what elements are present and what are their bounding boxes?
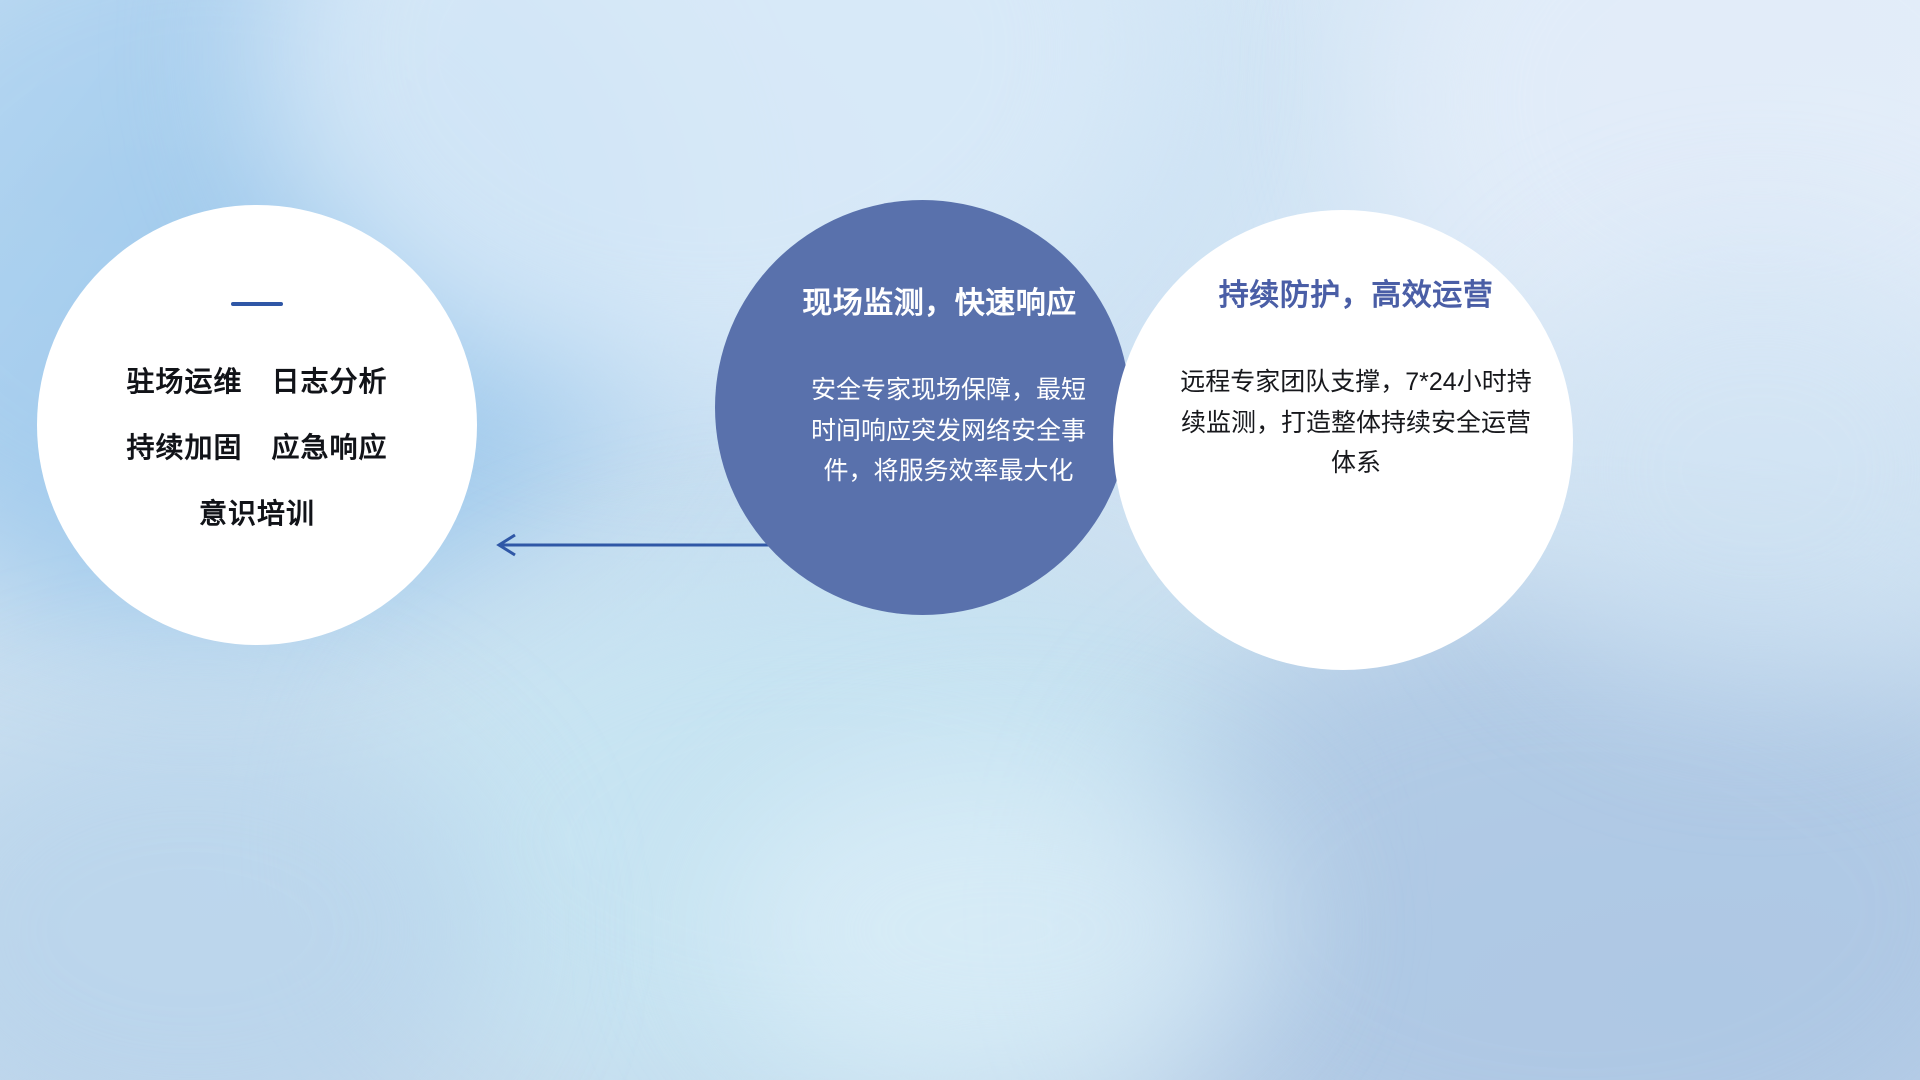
- divider-dash-icon: [231, 302, 283, 306]
- capabilities-circle: 驻场运维 日志分析 持续加固 应急响应 意识培训: [37, 205, 477, 645]
- background-blob: [380, 560, 1280, 1080]
- onsite-body: 安全专家现场保障，最短时间响应突发网络安全事件，将服务效率最大化: [807, 370, 1091, 492]
- diagram-canvas: 驻场运维 日志分析 持续加固 应急响应 意识培训 现场监测，快速响应 安全专家现…: [0, 0, 1920, 1080]
- capability-line-1: 驻场运维 日志分析: [126, 368, 387, 396]
- background-blob: [1120, 600, 1920, 1080]
- continuous-protection-circle: 持续防护，高效运营 远程专家团队支撑，7*24小时持续监测，打造整体持续安全运营…: [1113, 210, 1573, 670]
- remote-body: 远程专家团队支撑，7*24小时持续监测，打造整体持续安全运营体系: [1174, 362, 1538, 484]
- onsite-monitoring-circle: 现场监测，快速响应 安全专家现场保障，最短时间响应突发网络安全事件，将服务效率最…: [715, 200, 1130, 615]
- capability-line-2: 持续加固 应急响应: [126, 434, 387, 462]
- capability-line-3: 意识培训: [199, 500, 315, 528]
- remote-title: 持续防护，高效运营: [1219, 270, 1494, 314]
- background-blob: [720, 760, 1280, 1080]
- onsite-title: 现场监测，快速响应: [802, 278, 1077, 322]
- background-blob: [0, 700, 500, 1080]
